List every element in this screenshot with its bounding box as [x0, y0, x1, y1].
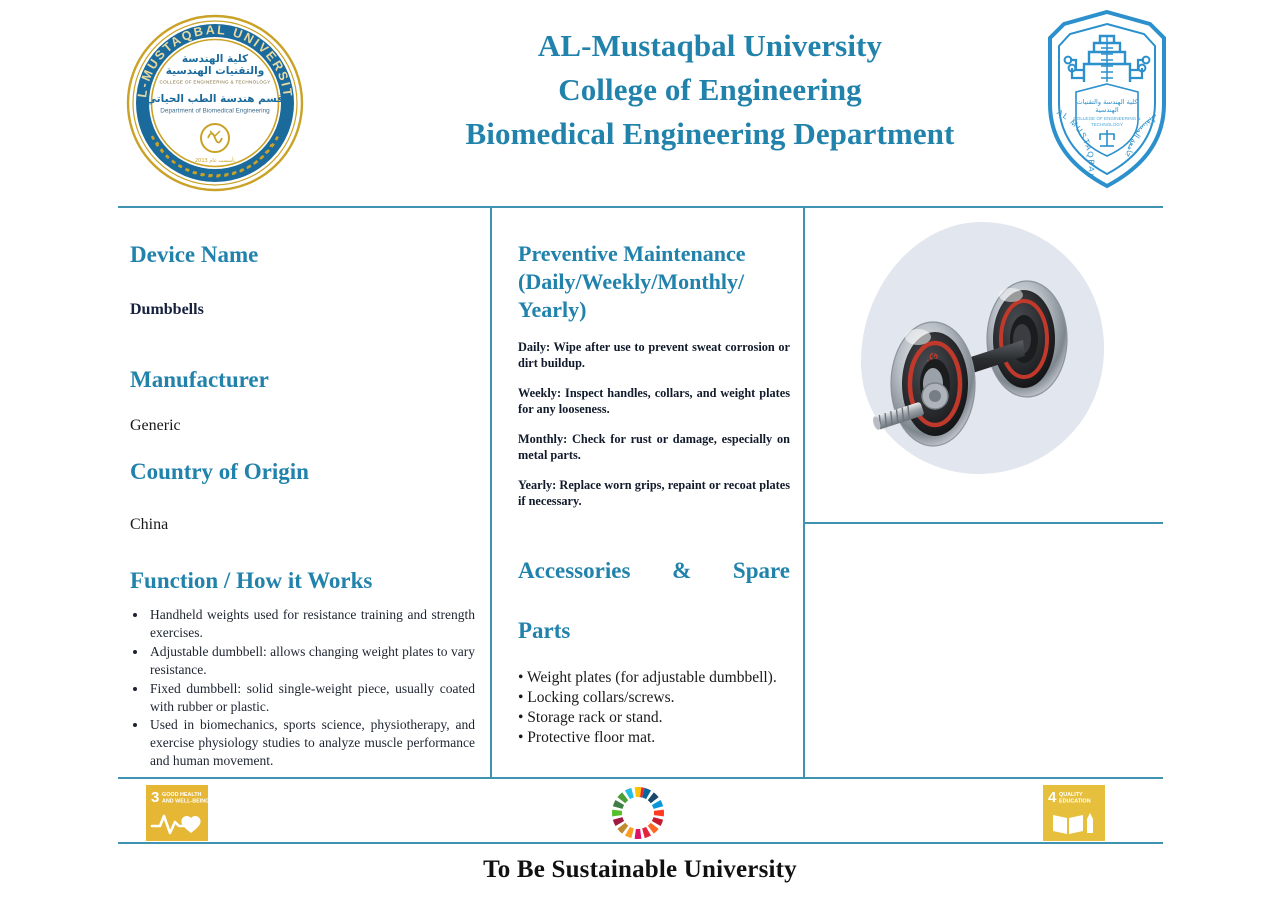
al-mustaqbal-university-college-seal-icon: AL-MUSTAQBAL UNIVERSITY كلية الهندسة وال…	[126, 14, 304, 192]
sdg-4-quality-education-icon: 4 QUALITY EDUCATION	[1043, 785, 1105, 841]
list-item: Handheld weights used for resistance tra…	[148, 606, 475, 642]
adjustable-chrome-dumbbell-photo: KG	[855, 216, 1110, 501]
maintenance-heading-line-3: Yearly)	[518, 297, 586, 322]
title-line-1: AL-Mustaqbal University	[330, 24, 1090, 68]
svg-text:QUALITY: QUALITY	[1059, 792, 1083, 798]
maintenance-item-monthly: Monthly: Check for rust or damage, espec…	[518, 432, 790, 464]
al-mustaqbal-university-shield-logo-icon: كلية الهندسة والتقنيات الهندسية COLLEGE …	[1032, 8, 1182, 193]
top-divider	[118, 206, 1163, 208]
device-name-heading: Device Name	[130, 240, 475, 269]
sdg-3-good-health-icon: 3 GOOD HEALTH AND WELL-BEING	[146, 785, 208, 841]
svg-text:COLLEGE OF ENGINEERING & TECHN: COLLEGE OF ENGINEERING & TECHNOLOGY	[160, 80, 271, 85]
page-title: AL-Mustaqbal University College of Engin…	[330, 24, 1090, 156]
right-column-divider	[803, 207, 805, 778]
svg-text:3: 3	[151, 789, 159, 806]
maintenance-item-weekly: Weekly: Inspect handles, collars, and we…	[518, 386, 790, 418]
title-line-2: College of Engineering	[330, 68, 1090, 112]
svg-text:كلية الهندسة: كلية الهندسة	[182, 53, 249, 65]
list-item: • Storage rack or stand.	[518, 708, 790, 728]
svg-text:تأسست عام 2013: تأسست عام 2013	[195, 156, 236, 164]
country-of-origin-heading: Country of Origin	[130, 457, 475, 486]
preventive-maintenance-heading: Preventive Maintenance (Daily/Weekly/Mon…	[518, 240, 790, 324]
accessories-heading-line-2: Parts	[518, 618, 570, 643]
footer-top-divider	[118, 777, 1163, 779]
list-item: Adjustable dumbbell: allows changing wei…	[148, 643, 475, 679]
svg-text:الهندسية: الهندسية	[1095, 106, 1119, 114]
manufacturer-value: Generic	[130, 417, 475, 435]
svg-text:كلية الهندسة والتقنيات: كلية الهندسة والتقنيات	[1077, 98, 1139, 106]
manufacturer-heading: Manufacturer	[130, 365, 475, 394]
function-bullet-list: Handheld weights used for resistance tra…	[130, 606, 475, 771]
accessories-heading: Accessories & Spare Parts	[518, 556, 790, 646]
list-item: • Locking collars/screws.	[518, 688, 790, 708]
maintenance-item-daily: Daily: Wipe after use to prevent sweat c…	[518, 340, 790, 372]
svg-text:AL MUSTAQBAL UNIVERSITY: AL MUSTAQBAL UNIVERSITY	[1032, 8, 1096, 180]
middle-column: Preventive Maintenance (Daily/Weekly/Mon…	[518, 240, 790, 747]
svg-text:COLLEGE OF ENGINEERING &: COLLEGE OF ENGINEERING &	[1073, 116, 1140, 121]
list-item: • Weight plates (for adjustable dumbbell…	[518, 668, 790, 688]
svg-text:قسم هندسة الطب الحياتي: قسم هندسة الطب الحياتي	[146, 93, 284, 105]
list-item: • Protective floor mat.	[518, 728, 790, 748]
footer-bottom-divider	[118, 842, 1163, 844]
accessories-list: • Weight plates (for adjustable dumbbell…	[518, 668, 790, 747]
left-column-divider	[490, 207, 492, 778]
poster-page: AL-MUSTAQBAL UNIVERSITY كلية الهندسة وال…	[0, 0, 1280, 904]
country-of-origin-value: China	[130, 516, 475, 534]
left-column: Device Name Dumbbells Manufacturer Gener…	[130, 240, 475, 771]
device-name-value: Dumbbells	[130, 301, 475, 319]
page-header: AL-MUSTAQBAL UNIVERSITY كلية الهندسة وال…	[0, 0, 1280, 200]
svg-text:Department of Biomedical Engin: Department of Biomedical Engineering	[160, 108, 270, 115]
right-column-inner-divider	[803, 522, 1163, 524]
accessories-heading-line-1: Accessories & Spare	[518, 556, 790, 616]
maintenance-heading-line-2: (Daily/Weekly/Monthly/	[518, 269, 744, 294]
maintenance-item-yearly: Yearly: Replace worn grips, repaint or r…	[518, 478, 790, 510]
svg-text:EDUCATION: EDUCATION	[1059, 799, 1091, 805]
footer-tagline: To Be Sustainable University	[0, 856, 1280, 884]
svg-text:TECHNOLOGY: TECHNOLOGY	[1091, 122, 1123, 127]
svg-text:AND WELL-BEING: AND WELL-BEING	[162, 799, 208, 805]
svg-text:والتقنيات الهندسية: والتقنيات الهندسية	[166, 65, 264, 77]
svg-text:4: 4	[1048, 789, 1057, 806]
list-item: Used in biomechanics, sports science, ph…	[148, 716, 475, 770]
list-item: Fixed dumbbell: solid single-weight piec…	[148, 680, 475, 716]
function-heading: Function / How it Works	[130, 566, 475, 595]
title-line-3: Biomedical Engineering Department	[330, 112, 1090, 156]
maintenance-heading-line-1: Preventive Maintenance	[518, 241, 745, 266]
svg-text:GOOD HEALTH: GOOD HEALTH	[162, 792, 202, 798]
sdg-color-wheel-icon	[608, 784, 668, 842]
